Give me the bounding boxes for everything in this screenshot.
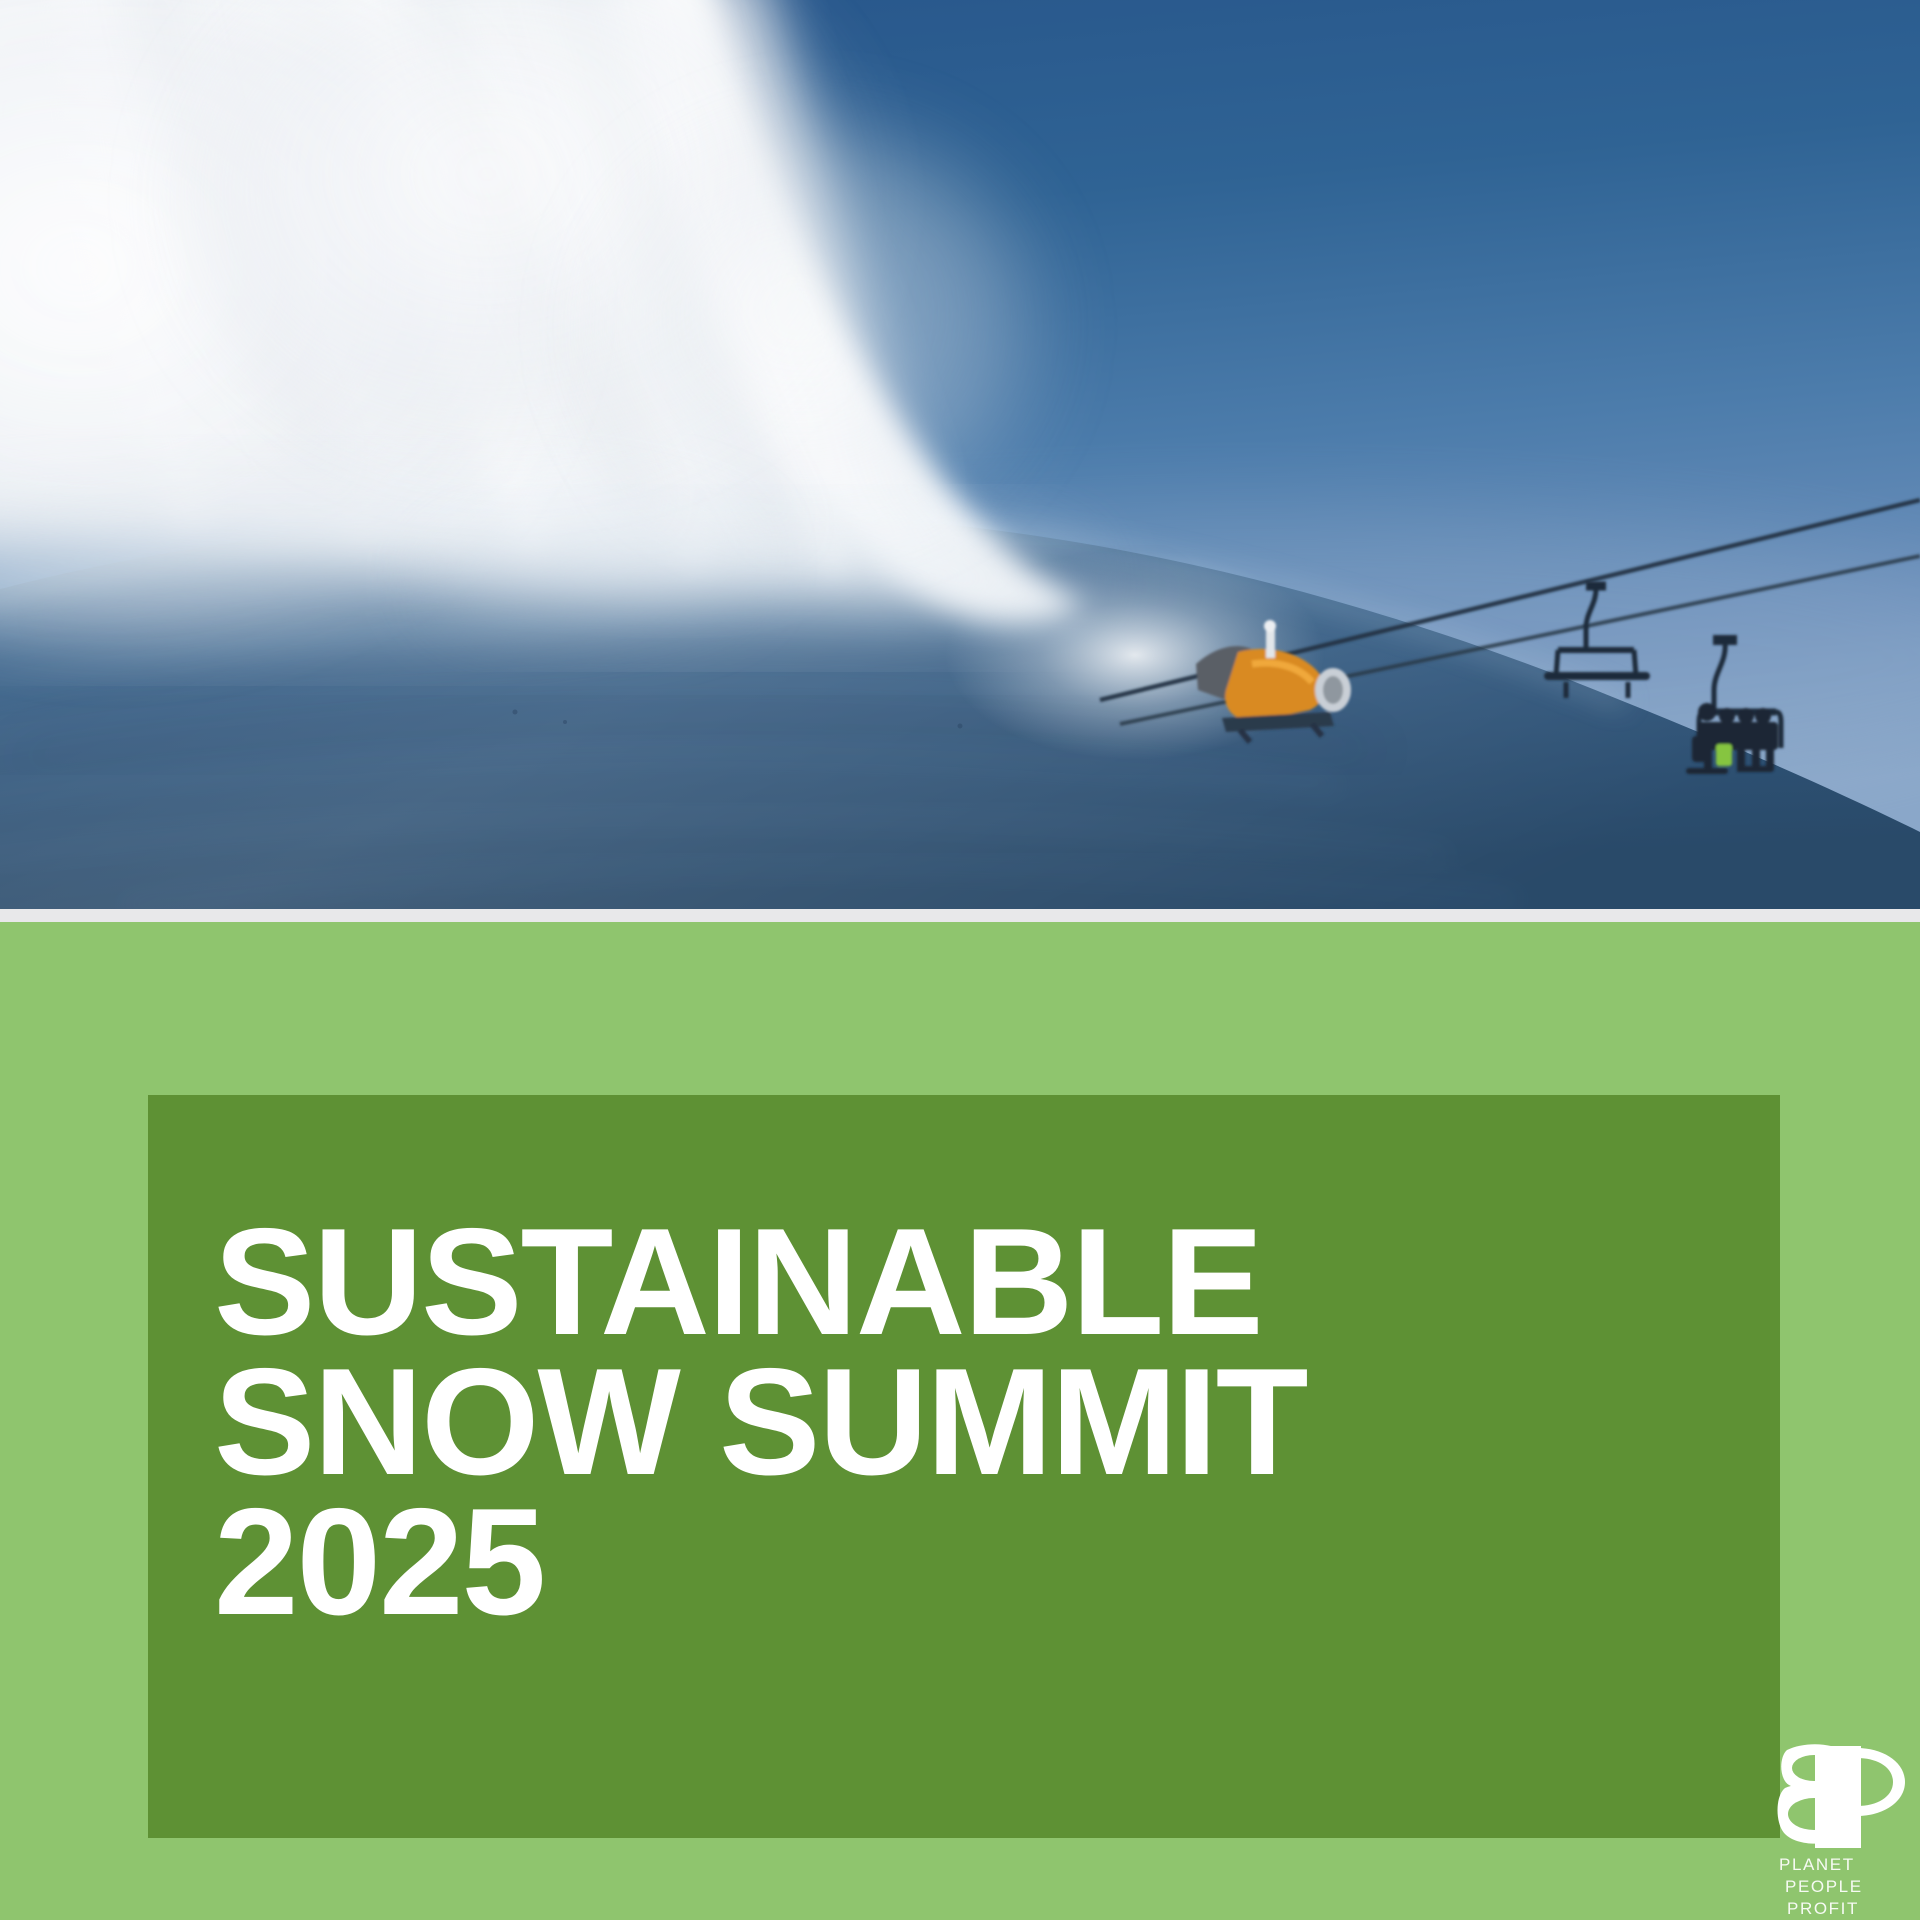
hero-photo-illustration [0,0,1920,909]
ski [1686,768,1728,774]
brand-logo[interactable]: PLANET PEOPLE PROFIT [1757,1742,1920,1920]
logo-3p-icon: PLANET PEOPLE PROFIT [1757,1742,1920,1920]
logo-tagline-people: PEOPLE [1785,1877,1863,1896]
rider-green-jacket [1716,744,1732,766]
logo-tagline-planet: PLANET [1779,1855,1855,1874]
ski [1740,766,1774,772]
logo-tagline-profit: PROFIT [1787,1899,1859,1918]
poster-root: SUSTAINABLE SNOW SUMMIT 2025 [0,0,1920,1920]
cannon-mast [1266,628,1275,658]
page-title: SUSTAINABLE SNOW SUMMIT 2025 [214,1213,1714,1632]
photo-divider [0,909,1920,922]
hero-photo [0,0,1920,909]
title-panel: SUSTAINABLE SNOW SUMMIT 2025 [148,1095,1780,1838]
